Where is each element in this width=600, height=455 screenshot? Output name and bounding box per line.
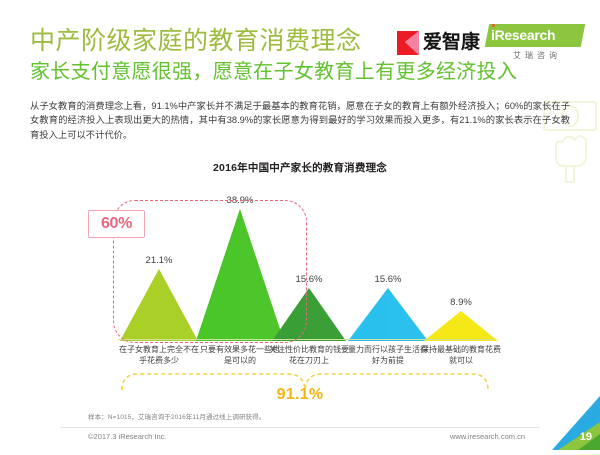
red-triangle-logo-mark <box>397 31 419 55</box>
total-percentage-label: 91.1% <box>0 386 600 404</box>
slide-root: 60% 中产阶级家庭的教育消费理念 家长支付意愿很强，愿意在子女教育上有更多经济… <box>0 0 600 450</box>
chart-bar-triangle <box>348 288 428 341</box>
page-subtitle: 家长支付意愿很强，愿意在子女教育上有更多经济投入 <box>30 60 517 84</box>
partner-logo: 爱智康 <box>397 30 480 56</box>
chart-value-label: 15.6% <box>264 274 354 285</box>
iresearch-logo-dot <box>492 24 495 27</box>
group-highlight-60-badge: 60% <box>88 210 145 238</box>
chart-bar: 15.6% <box>272 288 346 341</box>
chart-x-axis <box>118 339 493 340</box>
chart-x-label: 保持最基础的教育花费就可以 <box>418 345 504 366</box>
iresearch-logo-cn-label: 艾瑞咨询 <box>491 50 583 61</box>
chart-bar-triangle <box>424 311 498 341</box>
chart-value-label: 38.9% <box>195 195 285 206</box>
chart-source-note: 样本：N=1015，艾瑞咨询于2016年11月通过线上调研获得。 <box>88 411 265 421</box>
chart-bar-triangle <box>120 269 198 341</box>
chart-bar: 21.1% <box>120 269 198 341</box>
chart-bar: 8.9% <box>424 311 498 341</box>
chart-value-label: 8.9% <box>416 297 506 308</box>
iresearch-logo-label: iResearch <box>491 26 583 46</box>
footer-copyright: ©2017.3 iResearch Inc. <box>88 432 167 441</box>
slide-header: 中产阶级家庭的教育消费理念 家长支付意愿很强，愿意在子女教育上有更多经济投入 爱… <box>0 0 600 92</box>
chart-bar-triangle <box>272 288 346 341</box>
chart-bar: 15.6% <box>348 288 428 341</box>
chart-x-label: 在子女教育上完全不在乎花费多少 <box>116 345 202 366</box>
lead-paragraph: 从子女教育的消费理念上看，91.1%中产家长并不满足于最基本的教育花销，愿意在子… <box>30 99 570 142</box>
chart-x-label: 关注性价比教育的钱要花在刀刃上 <box>266 345 352 366</box>
footer-url: www.iresearch.com.cn <box>450 432 525 441</box>
page-title: 中产阶级家庭的教育消费理念 <box>30 26 362 56</box>
iresearch-logo: iResearch 艾瑞咨询 <box>487 24 583 64</box>
chart-value-label: 21.1% <box>114 255 204 266</box>
page-number: 19 <box>580 431 592 443</box>
chart-title: 2016年中国中产家长的教育消费理念 <box>0 160 600 175</box>
chart-value-label: 15.6% <box>343 274 433 285</box>
partner-logo-label: 爱智康 <box>423 31 480 55</box>
footer-divider <box>60 427 540 428</box>
